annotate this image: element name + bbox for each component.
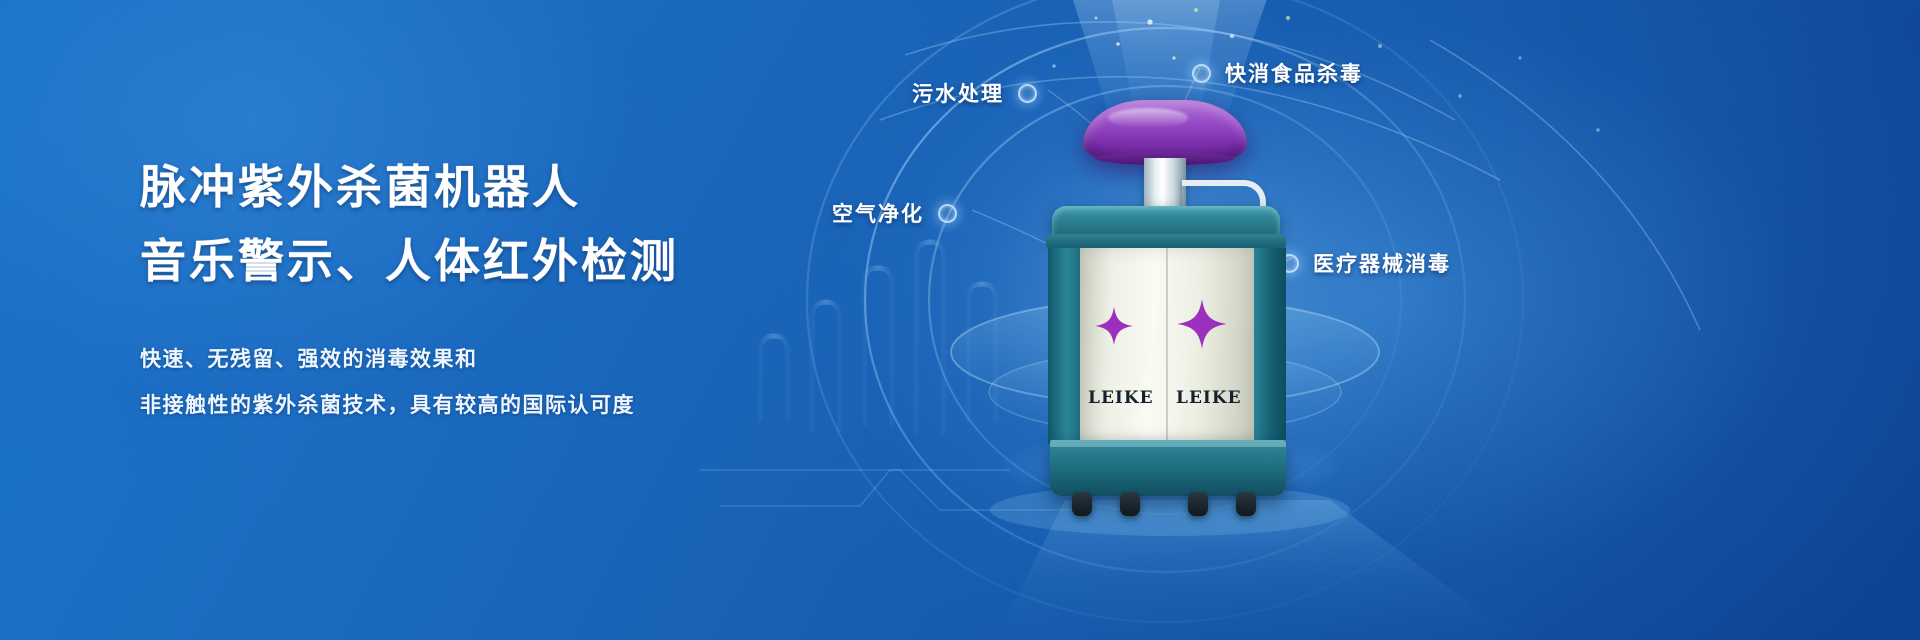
dome-highlight (1108, 108, 1188, 128)
callout-food-label: 快消食品杀毒 (1225, 58, 1363, 88)
callout-air: 空气净化 (832, 198, 957, 228)
brand-label-left: LEIKE (1088, 388, 1154, 408)
callout-air-label: 空气净化 (832, 198, 924, 228)
caster-wheel-icon (1120, 492, 1140, 516)
connector-node-icon (938, 204, 957, 223)
headline-line-2: 音乐警示、人体红外检测 (140, 224, 780, 298)
device-body-right (1252, 248, 1286, 444)
subcopy-line-2: 非接触性的紫外杀菌技术，具有较高的国际认可度 (140, 382, 780, 428)
promotional-banner: 脉冲紫外杀菌机器人 音乐警示、人体红外检测 快速、无残留、强效的消毒效果和 非接… (0, 0, 1920, 640)
subcopy-line-1: 快速、无残留、强效的消毒效果和 (140, 336, 780, 382)
callout-medical-label: 医疗器械消毒 (1313, 248, 1451, 278)
uv-disinfection-robot: LEIKE LEIKE (1010, 88, 1320, 508)
caster-wheel-icon (1188, 492, 1208, 516)
callout-food: 快消食品杀毒 (1192, 58, 1363, 88)
panel-divider (1166, 248, 1168, 444)
sparkle-icon (1094, 306, 1134, 346)
brand-label-right: LEIKE (1176, 388, 1242, 408)
headline-block: 脉冲紫外杀菌机器人 音乐警示、人体红外检测 快速、无残留、强效的消毒效果和 非接… (140, 150, 780, 428)
callout-wastewater-label: 污水处理 (912, 78, 1004, 108)
headline-line-1: 脉冲紫外杀菌机器人 (140, 150, 780, 224)
device-base (1050, 440, 1286, 496)
caster-wheel-icon (1072, 492, 1092, 516)
caster-wheel-icon (1236, 492, 1256, 516)
sparkle-icon (1176, 298, 1228, 350)
connector-node-icon (1192, 64, 1211, 83)
device-base-stripe (1050, 440, 1286, 447)
device-body-left (1048, 248, 1082, 444)
subcopy-block: 快速、无残留、强效的消毒效果和 非接触性的紫外杀菌技术，具有较高的国际认可度 (140, 336, 780, 428)
